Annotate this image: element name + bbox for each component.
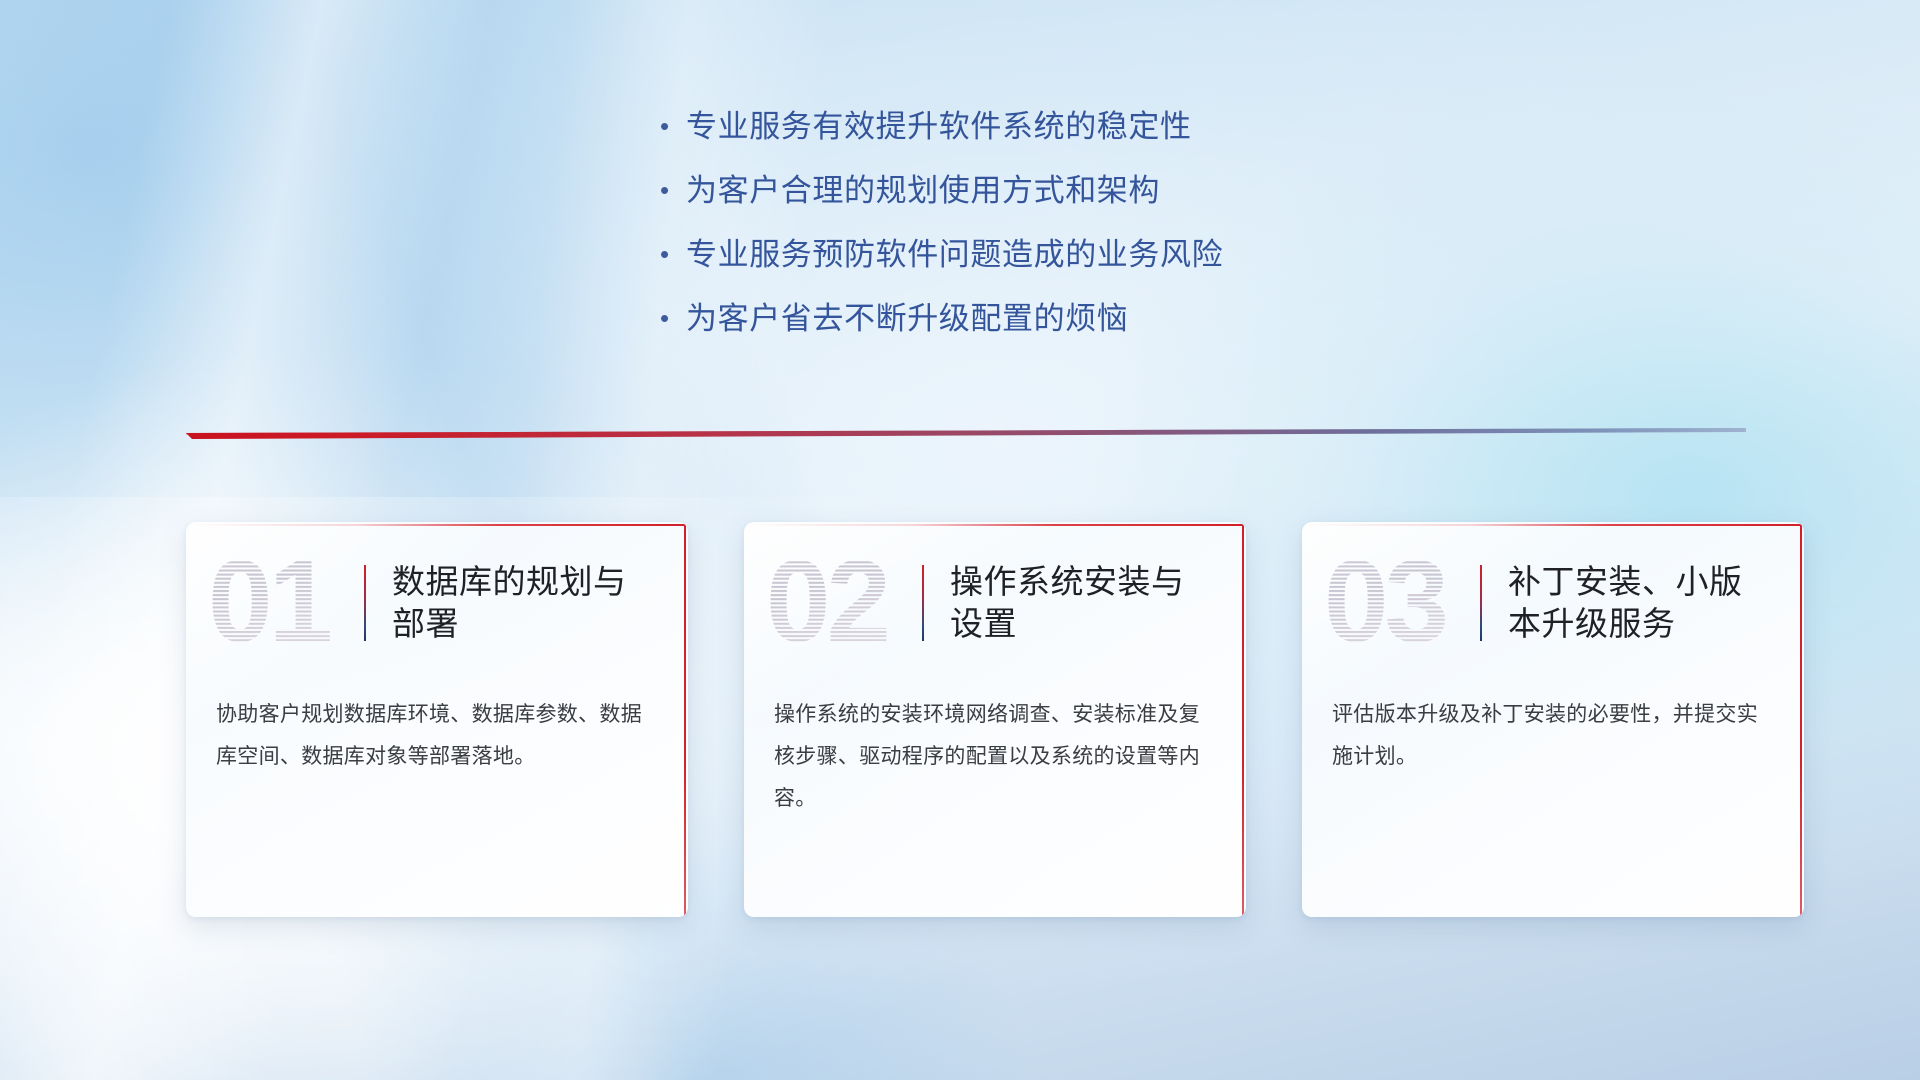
svg-text:03: 03 (1324, 549, 1446, 657)
list-item: • 为客户省去不断升级配置的烦恼 (660, 300, 1223, 364)
card-rule-divider (1480, 565, 1482, 641)
bullet-text: 为客户合理的规划使用方式和架构 (686, 172, 1160, 211)
card-rule-divider (922, 565, 924, 641)
bullet-dot-icon: • (660, 113, 686, 139)
service-card-row: 01 01 数据库的规划与部署 协助客户规划数据库环境、数据库参数、数据库空间、… (186, 522, 1806, 917)
service-card[interactable]: 02 02 操作系统安装与设置 操作系统的安装环境网络调查、安装标准及复核步骤、… (744, 522, 1246, 917)
card-title: 操作系统安装与设置 (950, 561, 1200, 644)
section-divider (186, 428, 1746, 450)
service-card[interactable]: 03 03 补丁安装、小版本升级服务 评估版本升级及补丁安装的必要性，并提交实施… (1302, 522, 1804, 917)
benefits-bullet-list: • 专业服务有效提升软件系统的稳定性 • 为客户合理的规划使用方式和架构 • 专… (660, 108, 1223, 364)
svg-text:01: 01 (208, 549, 331, 657)
card-title: 补丁安装、小版本升级服务 (1508, 561, 1758, 644)
card-description: 协助客户规划数据库环境、数据库参数、数据库空间、数据库对象等部署落地。 (186, 650, 688, 778)
bullet-dot-icon: • (660, 241, 686, 267)
slide-canvas: • 专业服务有效提升软件系统的稳定性 • 为客户合理的规划使用方式和架构 • 专… (0, 0, 1920, 1080)
svg-text:02: 02 (766, 549, 887, 657)
bullet-text: 专业服务预防软件问题造成的业务风险 (686, 236, 1223, 275)
service-card[interactable]: 01 01 数据库的规划与部署 协助客户规划数据库环境、数据库参数、数据库空间、… (186, 522, 688, 917)
card-number-graphic: 01 01 (208, 549, 360, 657)
card-description: 操作系统的安装环境网络调查、安装标准及复核步骤、驱动程序的配置以及系统的设置等内… (744, 650, 1246, 820)
bullet-text: 专业服务有效提升软件系统的稳定性 (686, 108, 1192, 147)
bullet-text: 为客户省去不断升级配置的烦恼 (686, 300, 1128, 339)
card-header: 02 02 操作系统安装与设置 (744, 522, 1246, 650)
card-title: 数据库的规划与部署 (392, 561, 642, 644)
card-header: 01 01 数据库的规划与部署 (186, 522, 688, 650)
card-description: 评估版本升级及补丁安装的必要性，并提交实施计划。 (1302, 650, 1804, 778)
bullet-dot-icon: • (660, 177, 686, 203)
bullet-dot-icon: • (660, 305, 686, 331)
card-number-graphic: 03 03 (1324, 549, 1476, 657)
card-number-graphic: 02 02 (766, 549, 918, 657)
list-item: • 为客户合理的规划使用方式和架构 (660, 172, 1223, 236)
list-item: • 专业服务预防软件问题造成的业务风险 (660, 236, 1223, 300)
card-rule-divider (364, 565, 366, 641)
card-header: 03 03 补丁安装、小版本升级服务 (1302, 522, 1804, 650)
list-item: • 专业服务有效提升软件系统的稳定性 (660, 108, 1223, 172)
